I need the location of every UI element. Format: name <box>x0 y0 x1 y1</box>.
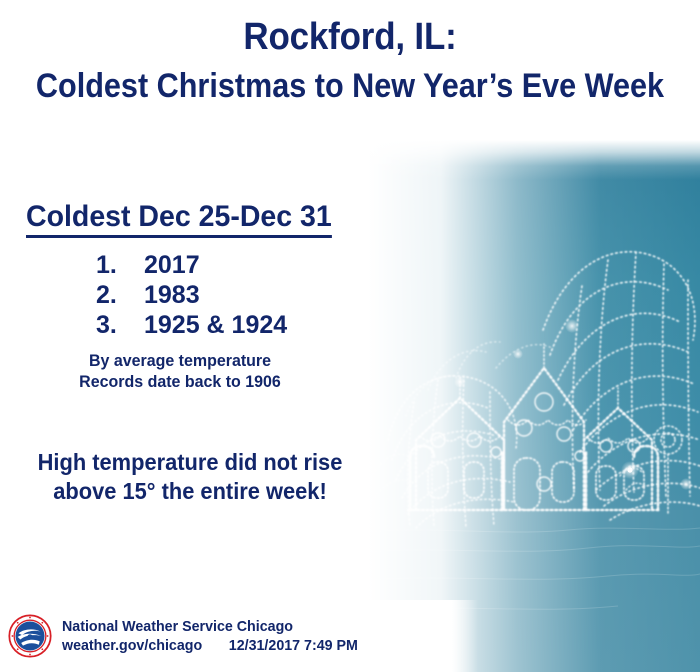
rank-number: 2. <box>96 280 144 310</box>
footer: National Weather Service Chicago weather… <box>0 600 452 672</box>
footer-url[interactable]: weather.gov/chicago <box>62 636 202 655</box>
highlight-statement: High temperature did not rise above 15° … <box>0 448 380 506</box>
highlight-line-1: High temperature did not rise <box>10 448 371 477</box>
footer-timestamp: 12/31/2017 7:49 PM <box>229 636 358 655</box>
rank-year: 1983 <box>144 281 200 309</box>
highlight-line-2: above 15° the entire week! <box>10 477 371 506</box>
footer-fade <box>452 600 478 672</box>
footer-agency: National Weather Service Chicago <box>62 617 358 636</box>
note-records-since: Records date back to 1906 <box>11 371 349 392</box>
list-item: 2.1983 <box>0 280 380 310</box>
title-subject: Coldest Christmas to New Year’s Eve Week <box>35 64 665 108</box>
noaa-nws-seal-icon <box>8 614 52 658</box>
christmas-lights-illustration <box>368 140 700 672</box>
rank-year: 2017 <box>144 251 200 279</box>
rank-year: 1925 & 1924 <box>144 311 287 339</box>
footer-meta: weather.gov/chicago12/31/2017 7:49 PM <box>62 636 358 655</box>
section-heading: Coldest Dec 25-Dec 31 <box>26 200 332 238</box>
list-item: 1.2017 <box>0 250 380 280</box>
title-location: Rockford, IL: <box>28 14 672 60</box>
footer-text: National Weather Service Chicago weather… <box>62 617 373 655</box>
main-content: Coldest Dec 25-Dec 31 1.2017 2.1983 3.19… <box>0 200 380 392</box>
rank-number: 1. <box>96 250 144 280</box>
page-title: Rockford, IL: Coldest Christmas to New Y… <box>0 14 700 108</box>
methodology-notes: By average temperature Records date back… <box>0 350 380 392</box>
rank-number: 3. <box>96 310 144 340</box>
coldest-years-list: 1.2017 2.1983 3.1925 & 1924 <box>0 250 380 340</box>
christmas-lights-photo <box>368 140 700 672</box>
list-item: 3.1925 & 1924 <box>0 310 380 340</box>
note-average-temperature: By average temperature <box>11 350 349 371</box>
